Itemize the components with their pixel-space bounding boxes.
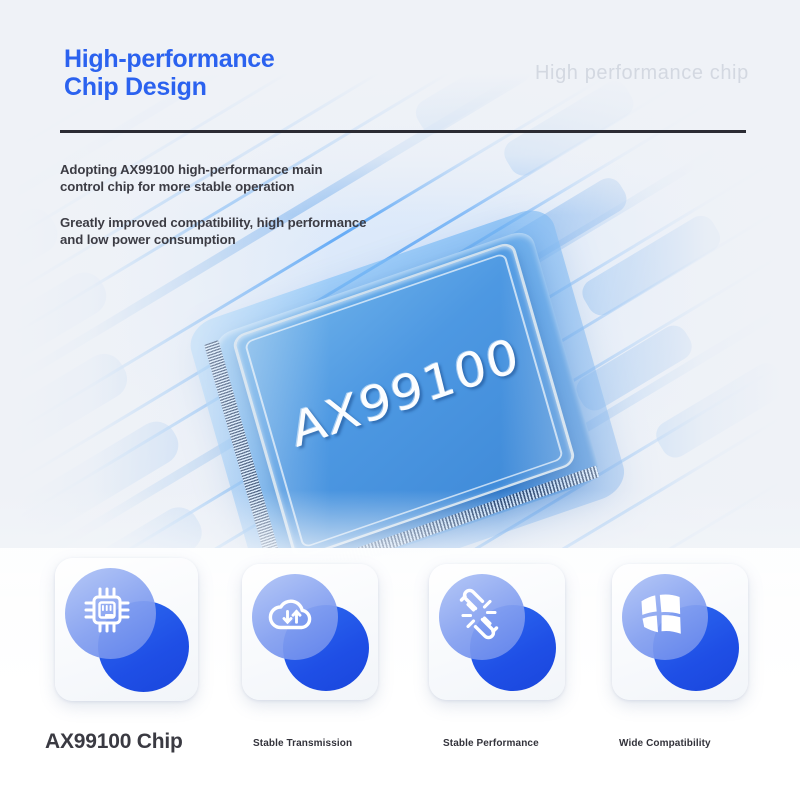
feature-bullet-list: Adopting AX99100 high-performance main c… — [60, 161, 366, 249]
chip-icon — [81, 584, 133, 636]
product-feature-page: AX99100 High-performance Chip Design Hig… — [0, 0, 800, 800]
windows-logo-icon — [637, 589, 687, 639]
header-watermark: High performance chip — [535, 62, 749, 85]
feature-card-stable-performance[interactable] — [429, 564, 565, 700]
feature-card-ax99100-chip[interactable] — [55, 558, 198, 701]
feature-bullet: Adopting AX99100 high-performance main c… — [60, 161, 366, 196]
feature-card-stable-transmission[interactable] — [242, 564, 378, 700]
plug-connector-icon — [453, 588, 505, 640]
feature-card-wide-compatibility[interactable] — [612, 564, 748, 700]
feature-card-label: Stable Transmission — [253, 738, 352, 749]
feature-card-label: AX99100 Chip — [45, 730, 183, 754]
cloud-transfer-icon — [267, 589, 317, 639]
header-divider — [60, 130, 746, 133]
page-title: High-performance Chip Design — [64, 46, 275, 101]
feature-card-label: Stable Performance — [443, 738, 539, 749]
feature-card-list: AX99100 Chip Stable Transmission Stable … — [0, 548, 800, 800]
feature-bullet: Greatly improved compatibility, high per… — [60, 214, 366, 249]
feature-card-label: Wide Compatibility — [619, 738, 711, 749]
